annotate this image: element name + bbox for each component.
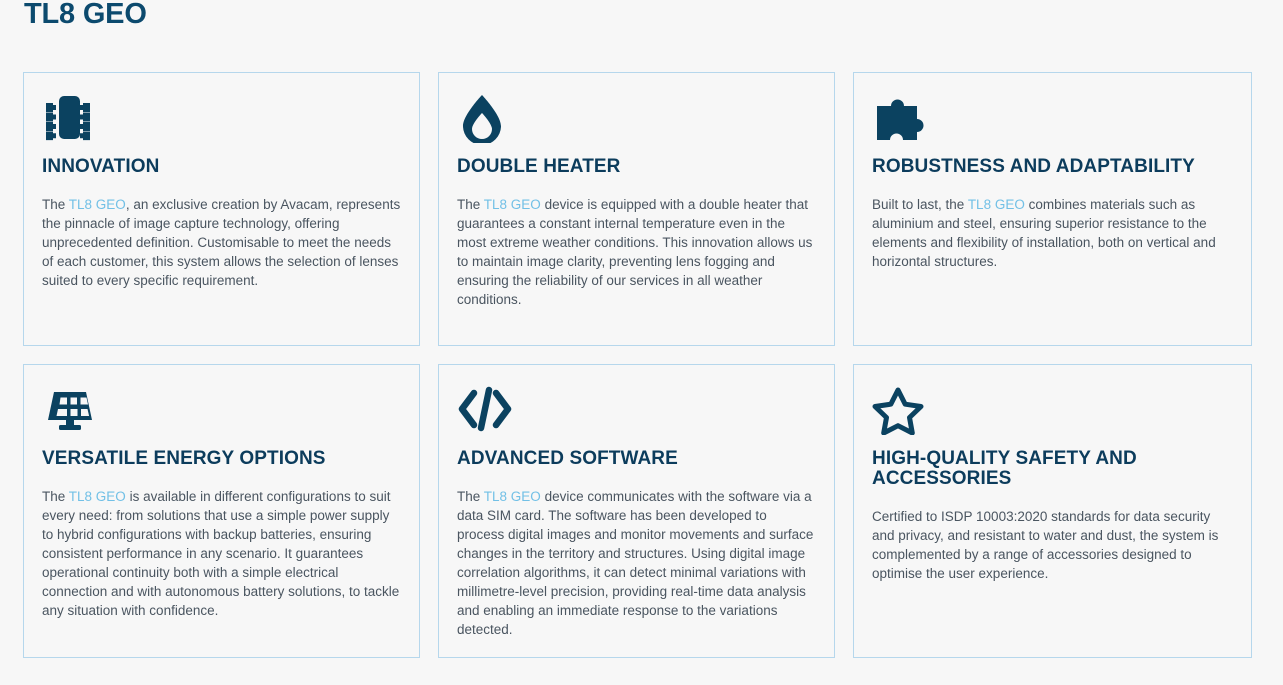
feature-card-body: Certified to ISDP 10003:2020 standards f…	[872, 507, 1233, 583]
feature-card: INNOVATIONThe TL8 GEO, an exclusive crea…	[23, 72, 420, 346]
feature-card-title: ROBUSTNESS AND ADAPTABILITY	[872, 157, 1233, 177]
product-link[interactable]: TL8 GEO	[968, 197, 1025, 212]
body-text: The	[42, 197, 69, 212]
product-features-page: TL8 GEO INNOVATIONThe TL8 GEO, an exclus…	[0, 0, 1283, 685]
feature-card-body: The TL8 GEO device is equipped with a do…	[457, 195, 816, 309]
feature-card-body: The TL8 GEO device communicates with the…	[457, 487, 816, 639]
body-text: The	[457, 197, 484, 212]
product-link[interactable]: TL8 GEO	[484, 197, 541, 212]
solar-panel-icon	[42, 385, 401, 435]
body-text: is available in different configurations…	[42, 489, 399, 618]
body-text: device is equipped with a double heater …	[457, 197, 812, 307]
feature-card-title: INNOVATION	[42, 157, 401, 177]
feature-card: DOUBLE HEATERThe TL8 GEO device is equip…	[438, 72, 835, 346]
body-text: device communicates with the software vi…	[457, 489, 813, 637]
microchip-icon	[42, 93, 401, 143]
feature-card-title: VERSATILE ENERGY OPTIONS	[42, 449, 401, 469]
water-drop-icon	[457, 93, 816, 143]
body-text: Built to last, the	[872, 197, 968, 212]
feature-card: VERSATILE ENERGY OPTIONSThe TL8 GEO is a…	[23, 364, 420, 658]
product-link[interactable]: TL8 GEO	[69, 489, 126, 504]
feature-card-body: Built to last, the TL8 GEO combines mate…	[872, 195, 1233, 271]
feature-card-title: DOUBLE HEATER	[457, 157, 816, 177]
puzzle-piece-icon	[872, 93, 1233, 143]
feature-card-body: The TL8 GEO is available in different co…	[42, 487, 401, 620]
code-brackets-icon	[457, 385, 816, 435]
feature-card-title: ADVANCED SOFTWARE	[457, 449, 816, 469]
star-outline-icon	[872, 385, 1233, 435]
feature-card: HIGH-QUALITY SAFETY AND ACCESSORIESCerti…	[853, 364, 1252, 658]
product-link[interactable]: TL8 GEO	[69, 197, 126, 212]
body-text: The	[42, 489, 69, 504]
feature-card-body: The TL8 GEO, an exclusive creation by Av…	[42, 195, 401, 290]
body-text: Certified to ISDP 10003:2020 standards f…	[872, 509, 1218, 581]
feature-card-grid: INNOVATIONThe TL8 GEO, an exclusive crea…	[23, 72, 1252, 658]
feature-card-title: HIGH-QUALITY SAFETY AND ACCESSORIES	[872, 449, 1233, 489]
product-link[interactable]: TL8 GEO	[484, 489, 541, 504]
body-text: The	[457, 489, 484, 504]
page-title: TL8 GEO	[24, 0, 147, 34]
feature-card: ADVANCED SOFTWAREThe TL8 GEO device comm…	[438, 364, 835, 658]
feature-card: ROBUSTNESS AND ADAPTABILITYBuilt to last…	[853, 72, 1252, 346]
